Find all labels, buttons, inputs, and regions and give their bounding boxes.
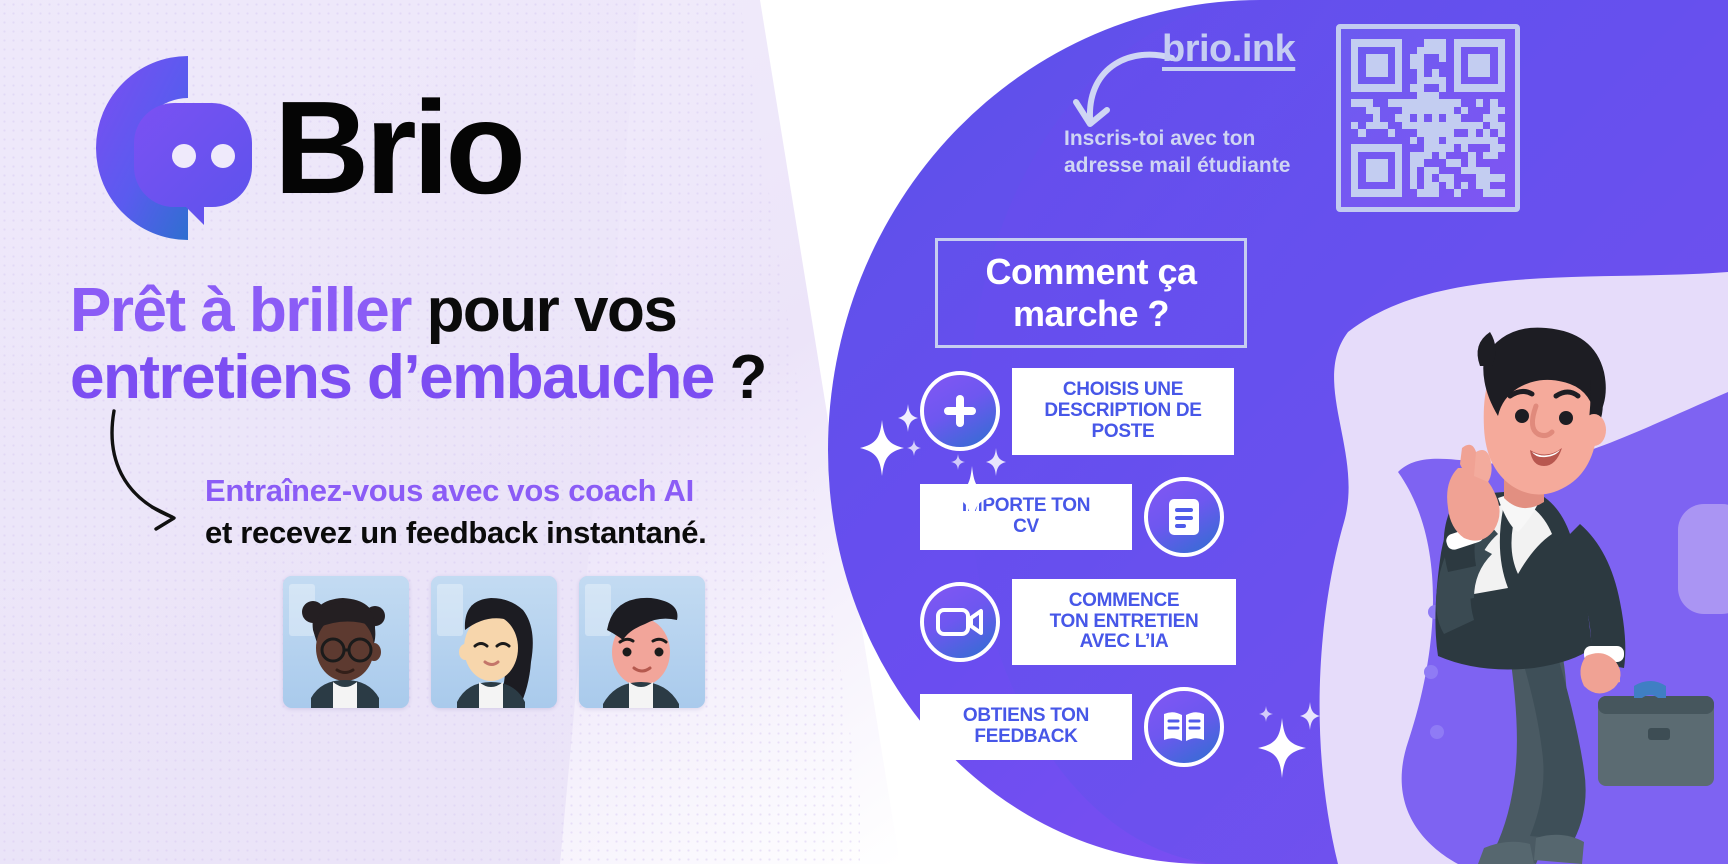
brand-wordmark: Brio [274, 82, 522, 214]
step-item[interactable]: COMMENCETON ENTRETIENAVEC L’IA [920, 579, 1260, 666]
subtitle-line-2: et recevez un feedback instantané. [205, 512, 845, 554]
avatar [579, 576, 705, 708]
sparkle-icon [856, 400, 926, 485]
subtitle-line-1: Entraînez-vous avec vos coach AI [205, 470, 845, 512]
headline-part-4: ? [714, 343, 766, 412]
steps-list: CHOISIS UNEDESCRIPTION DEPOSTE IMPORTE T… [920, 368, 1260, 789]
step-label: COMMENCETON ENTRETIENAVEC L’IA [1012, 579, 1236, 666]
subtitle-block: Entraînez-vous avec vos coach AI et rece… [205, 470, 845, 553]
open-book-icon [1144, 687, 1224, 767]
howto-title-box: Comment ça marche ? [935, 238, 1247, 348]
avatar [283, 576, 409, 708]
promo-banner: Brio Prêt à briller pour vos entretiens … [0, 0, 1728, 864]
step-label: CHOISIS UNEDESCRIPTION DEPOSTE [1012, 368, 1234, 455]
sparkle-icon [940, 440, 1020, 535]
document-icon [1144, 477, 1224, 557]
brand-logo: Brio [84, 48, 522, 248]
signup-url-link[interactable]: brio.ink [1162, 28, 1295, 71]
brio-chat-logo-icon [84, 48, 270, 248]
coach-avatar-list [283, 576, 705, 708]
signup-caption-line-2: adresse mail étudiante [1064, 153, 1344, 180]
howto-title-line-2: marche ? [1013, 293, 1169, 334]
qr-code-matrix [1351, 39, 1505, 197]
avatar [431, 576, 557, 708]
howto-title-line-1: Comment ça [985, 251, 1196, 292]
video-camera-icon [920, 582, 1000, 662]
page-title: Prêt à briller pour vos entretiens d’emb… [70, 278, 890, 412]
step-item[interactable]: OBTIENS TONFEEDBACK [920, 687, 1260, 767]
headline-part-1: Prêt à briller [70, 276, 427, 345]
step-label: OBTIENS TONFEEDBACK [920, 694, 1132, 760]
qr-code[interactable] [1336, 24, 1520, 212]
headline-part-3: entretiens d’embauche [70, 343, 714, 412]
businessman-illustration [1298, 272, 1728, 864]
headline-part-2: pour vos [427, 276, 677, 345]
signup-caption: Inscris-toi avec ton adresse mail étudia… [1064, 126, 1344, 180]
signup-caption-line-1: Inscris-toi avec ton [1064, 126, 1344, 153]
